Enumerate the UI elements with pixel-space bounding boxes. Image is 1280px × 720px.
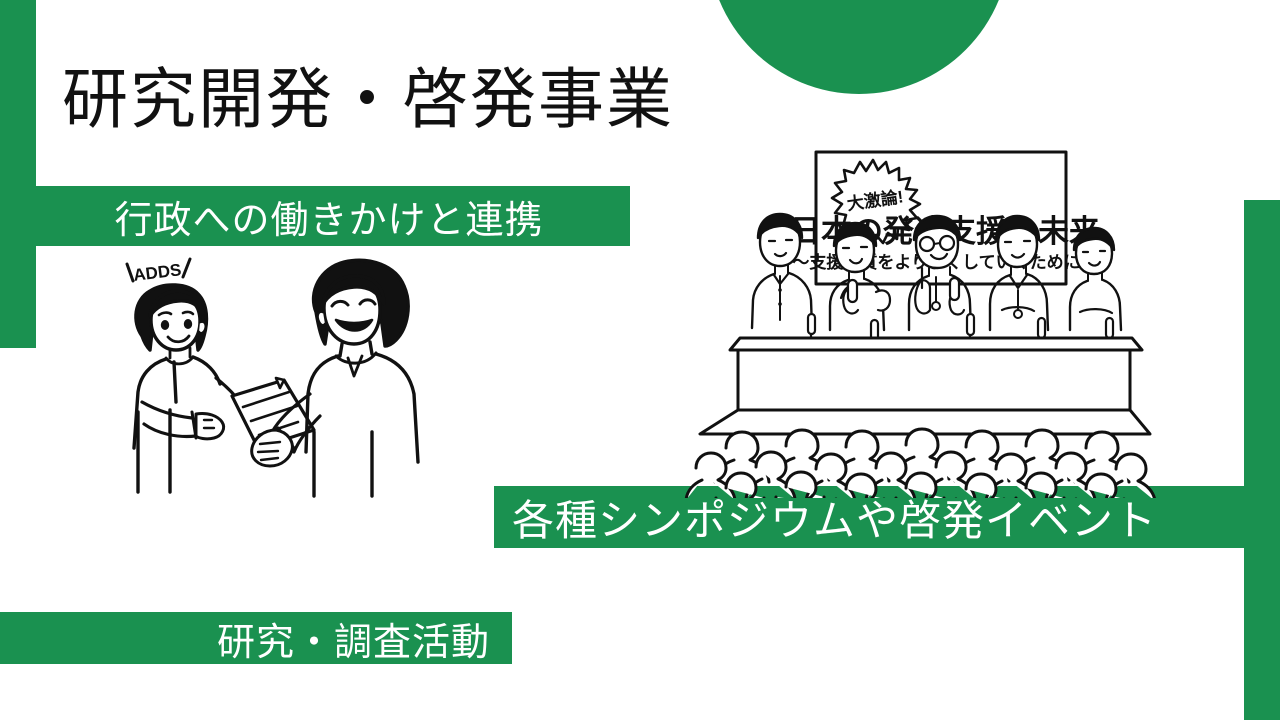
panel-table: [730, 338, 1142, 412]
caption-administration: 行政への働きかけと連携: [36, 186, 630, 246]
slide-canvas: 研究開発・啓発事業 行政への働きかけと連携 各種シンポジウムや啓発イベント 研究…: [0, 0, 1280, 720]
left-vertical-green-bar: [0, 0, 36, 348]
caption-research-label: 研究・調査活動: [217, 611, 490, 666]
caption-administration-label: 行政への働きかけと連携: [114, 189, 543, 244]
illustration-symposium: 大激論! 日本の発達支援の未来 〜支援の質をよりよくしていくために〜: [664, 138, 1184, 498]
person-left: [134, 285, 240, 492]
illustration-handoff: ADDS: [108, 252, 438, 502]
right-vertical-green-bar: [1244, 200, 1280, 720]
panelist: [1070, 228, 1121, 330]
dark-green-circle-decor: [708, 0, 1010, 94]
page-title: 研究開発・啓発事業: [62, 62, 674, 138]
audience: [686, 429, 1155, 498]
caption-research: 研究・調査活動: [0, 612, 512, 664]
adds-label-text: ADDS: [132, 260, 182, 285]
